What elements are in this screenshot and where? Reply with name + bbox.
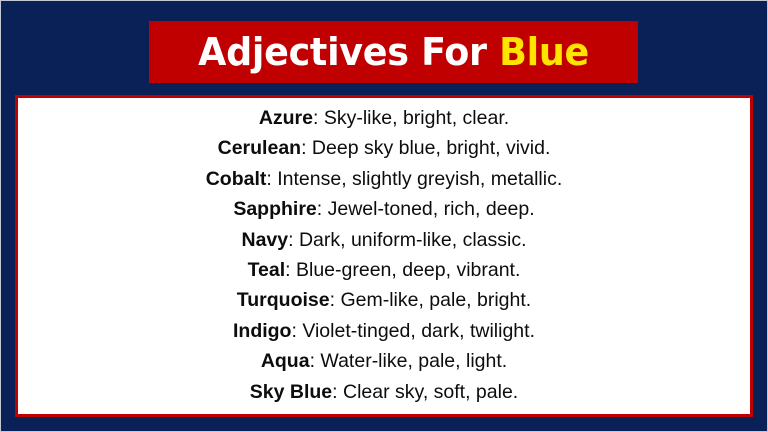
list-item: Turquoise: Gem-like, pale, bright. <box>28 285 740 315</box>
adjective-separator: : <box>310 350 321 372</box>
adjective-term: Sky Blue <box>250 381 332 403</box>
adjective-description: Dark, uniform-like, classic. <box>299 229 527 251</box>
adjective-description: Violet-tinged, dark, twilight. <box>302 320 535 342</box>
list-item: Sky Blue: Clear sky, soft, pale. <box>28 377 740 407</box>
adjective-separator: : <box>288 229 299 251</box>
list-item: Navy: Dark, uniform-like, classic. <box>28 225 740 255</box>
adjective-term: Turquoise <box>237 289 330 311</box>
adjective-term: Navy <box>241 229 288 251</box>
adjective-separator: : <box>285 259 296 281</box>
adjective-separator: : <box>330 289 341 311</box>
adjective-term: Teal <box>248 259 286 281</box>
adjective-separator: : <box>313 107 324 129</box>
adjective-description: Sky-like, bright, clear. <box>324 107 509 129</box>
list-item: Aqua: Water-like, pale, light. <box>28 346 740 376</box>
poster-root: Adjectives For Blue Azure: Sky-like, bri… <box>0 0 768 432</box>
adjective-term: Azure <box>259 107 313 129</box>
adjective-term: Cerulean <box>218 137 301 159</box>
adjective-description: Deep sky blue, bright, vivid. <box>312 137 550 159</box>
adjective-term: Sapphire <box>233 198 316 220</box>
adjective-description: Gem-like, pale, bright. <box>340 289 531 311</box>
adjective-term: Aqua <box>261 350 310 372</box>
adjective-description: Jewel-toned, rich, deep. <box>328 198 535 220</box>
list-item: Cerulean: Deep sky blue, bright, vivid. <box>28 133 740 163</box>
adjective-separator: : <box>291 320 302 342</box>
title-banner: Adjectives For Blue <box>149 21 638 83</box>
adjective-separator: : <box>266 168 277 190</box>
title-highlight-word: Blue <box>499 30 589 74</box>
adjective-list: Azure: Sky-like, bright, clear.Cerulean:… <box>28 103 740 407</box>
adjective-separator: : <box>332 381 343 403</box>
adjective-term: Cobalt <box>206 168 267 190</box>
adjective-description: Clear sky, soft, pale. <box>343 381 518 403</box>
adjective-description: Blue-green, deep, vibrant. <box>296 259 520 281</box>
list-item: Azure: Sky-like, bright, clear. <box>28 103 740 133</box>
adjective-term: Indigo <box>233 320 291 342</box>
content-panel: Azure: Sky-like, bright, clear.Cerulean:… <box>15 95 753 417</box>
adjective-description: Intense, slightly greyish, metallic. <box>277 168 562 190</box>
adjective-separator: : <box>301 137 312 159</box>
list-item: Teal: Blue-green, deep, vibrant. <box>28 255 740 285</box>
list-item: Cobalt: Intense, slightly greyish, metal… <box>28 164 740 194</box>
adjective-separator: : <box>317 198 328 220</box>
page-title: Adjectives For Blue <box>198 33 589 71</box>
list-item: Indigo: Violet-tinged, dark, twilight. <box>28 316 740 346</box>
adjective-description: Water-like, pale, light. <box>320 350 507 372</box>
title-prefix: Adjectives For <box>198 30 499 74</box>
list-item: Sapphire: Jewel-toned, rich, deep. <box>28 194 740 224</box>
